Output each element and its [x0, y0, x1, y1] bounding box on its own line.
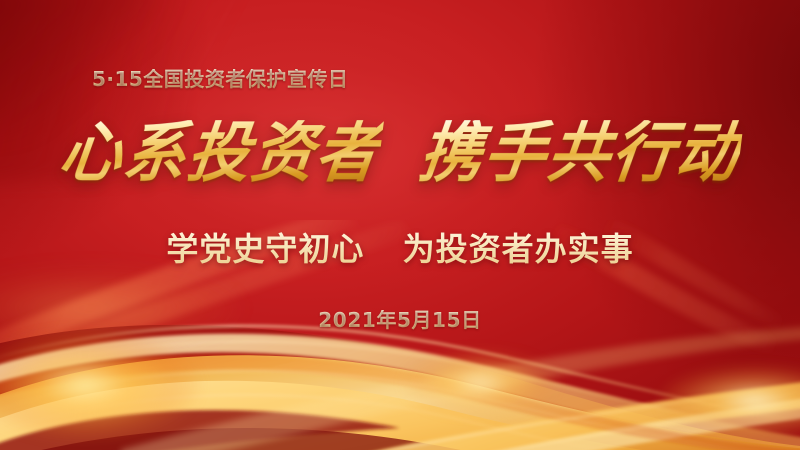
headline-part-1: 心系投资者 — [56, 120, 384, 186]
poster-content: 5·15全国投资者保护宣传日 心系投资者 携手共行动 学党史守初心 为投资者办实… — [0, 0, 800, 450]
event-date: 2021年5月15日 — [0, 310, 800, 330]
poster-subtitle: 学党史守初心 为投资者办实事 — [0, 229, 800, 269]
subtitle-part-2: 为投资者办实事 — [403, 230, 634, 268]
investor-protection-poster: 5·15全国投资者保护宣传日 心系投资者 携手共行动 学党史守初心 为投资者办实… — [0, 0, 800, 450]
subtitle-part-1: 学党史守初心 — [166, 230, 364, 268]
page-title: 心系投资者 携手共行动 — [0, 122, 800, 184]
event-eyebrow-label: 5·15全国投资者保护宣传日 — [92, 69, 348, 89]
headline-part-2: 携手共行动 — [416, 120, 744, 186]
